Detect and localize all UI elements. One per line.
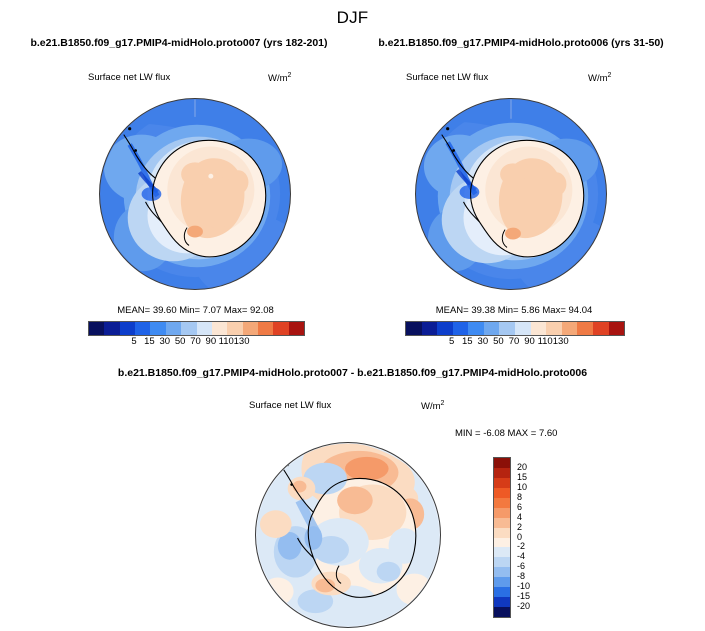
field-label-difference: Surface net LW flux <box>249 400 331 411</box>
panel-title-difference: b.e21.B1850.f09_g17.PMIP4-midHolo.proto0… <box>0 367 705 379</box>
colorbar-cell <box>494 488 510 498</box>
colorbar-tick-label: 30 <box>159 336 170 347</box>
colorbar-cell <box>258 322 273 335</box>
colorbar-cell <box>181 322 196 335</box>
colorbar-tick-label: -10 <box>517 581 530 591</box>
colorbar-cell <box>484 322 500 335</box>
colorbar-cell <box>273 322 288 335</box>
unit-label-right: W/m2 <box>588 72 611 84</box>
colorbar-tick-label: 90 <box>524 336 535 347</box>
unit-label-difference: W/m2 <box>421 400 444 412</box>
colorbar-cell <box>494 597 510 607</box>
colorbar-tick-label: 90 <box>206 336 217 347</box>
figure-season-title: DJF <box>0 8 705 28</box>
polar-map-difference <box>255 442 441 628</box>
colorbar-cell <box>494 468 510 478</box>
colorbar-cell <box>546 322 562 335</box>
stats-difference: MIN = -6.08 MAX = 7.60 <box>455 428 630 439</box>
colorbar-tick-label: 70 <box>190 336 201 347</box>
colorbar-cell <box>494 538 510 548</box>
colorbar-cell <box>227 322 242 335</box>
unit-label-left: W/m2 <box>268 72 291 84</box>
colorbar-cell <box>531 322 547 335</box>
colorbar-tick-label: -4 <box>517 551 525 561</box>
colorbar-cell <box>494 547 510 557</box>
polar-map-difference-svg <box>256 443 440 627</box>
colorbar-tick-label: 0 <box>517 532 522 542</box>
polar-map-right-svg <box>416 99 606 289</box>
colorbar-cell <box>494 508 510 518</box>
colorbar-tick-label: 10 <box>517 482 527 492</box>
unit-text-right: W/m <box>588 73 608 84</box>
colorbar-tick-label: 15 <box>462 336 473 347</box>
colorbar-tick-label: 15 <box>517 472 527 482</box>
colorbar-cell <box>406 322 422 335</box>
colorbar-cell <box>150 322 165 335</box>
stats-right: MEAN= 39.38 Min= 5.86 Max= 94.04 <box>405 305 623 316</box>
colorbar-cell <box>494 528 510 538</box>
polar-map-right <box>415 98 607 290</box>
polar-map-left <box>99 98 291 290</box>
colorbar-cell <box>609 322 625 335</box>
colorbar-difference <box>493 457 511 618</box>
colorbar-tick-label: 2 <box>517 522 522 532</box>
colorbar-tick-label: 4 <box>517 512 522 522</box>
colorbar-tick-label: 130 <box>553 336 569 347</box>
colorbar-tick-label: 8 <box>517 492 522 502</box>
colorbar-tick-label: 110 <box>219 336 234 347</box>
unit-exponent-right: 2 <box>608 72 612 79</box>
colorbar-tick-label: -20 <box>517 601 530 611</box>
unit-exponent-left: 2 <box>288 72 292 79</box>
colorbar-tick-label: 20 <box>517 462 527 472</box>
colorbar-cell <box>289 322 304 335</box>
colorbar-tick-label: 6 <box>517 502 522 512</box>
colorbar-tick-label: 5 <box>449 336 454 347</box>
colorbar-cell <box>515 322 531 335</box>
colorbar-cell <box>494 557 510 567</box>
colorbar-tick-label: -15 <box>517 591 530 601</box>
colorbar-tick-label: 50 <box>493 336 504 347</box>
colorbar-cell <box>422 322 438 335</box>
colorbar-tick-label: 130 <box>234 336 250 347</box>
colorbar-cell <box>577 322 593 335</box>
colorbar-left <box>88 321 305 336</box>
colorbar-cell <box>494 607 510 617</box>
unit-exponent-difference: 2 <box>441 400 445 407</box>
stats-left: MEAN= 39.60 Min= 7.07 Max= 92.08 <box>88 305 303 316</box>
colorbar-cell <box>212 322 227 335</box>
colorbar-tick-label: -2 <box>517 541 525 551</box>
colorbar-cell <box>494 478 510 488</box>
unit-text-left: W/m <box>268 73 288 84</box>
colorbar-tick-label: 50 <box>175 336 186 347</box>
colorbar-cell <box>499 322 515 335</box>
field-label-right: Surface net LW flux <box>406 72 488 83</box>
colorbar-tick-label: 70 <box>509 336 520 347</box>
colorbar-right-labels: 51530507090110130 <box>405 336 623 350</box>
colorbar-tick-label: 110 <box>538 336 553 347</box>
unit-text-difference: W/m <box>421 401 441 412</box>
colorbar-right <box>405 321 625 336</box>
polar-map-left-svg <box>100 99 290 289</box>
colorbar-cell <box>494 587 510 597</box>
colorbar-tick-label: -6 <box>517 561 525 571</box>
colorbar-cell <box>468 322 484 335</box>
colorbar-cell <box>593 322 609 335</box>
colorbar-tick-label: 15 <box>144 336 155 347</box>
colorbar-cell <box>120 322 135 335</box>
colorbar-cell <box>494 567 510 577</box>
colorbar-cell <box>135 322 150 335</box>
colorbar-cell <box>197 322 212 335</box>
colorbar-cell <box>494 458 510 468</box>
colorbar-cell <box>104 322 119 335</box>
colorbar-cell <box>243 322 258 335</box>
panel-title-left: b.e21.B1850.f09_g17.PMIP4-midHolo.proto0… <box>10 37 348 49</box>
panel-title-right: b.e21.B1850.f09_g17.PMIP4-midHolo.proto0… <box>352 37 690 49</box>
field-label-left: Surface net LW flux <box>88 72 170 83</box>
colorbar-tick-label: 5 <box>131 336 136 347</box>
colorbar-cell <box>494 577 510 587</box>
colorbar-tick-label: -8 <box>517 571 525 581</box>
colorbar-cell <box>494 518 510 528</box>
colorbar-cell <box>437 322 453 335</box>
colorbar-cell <box>562 322 578 335</box>
colorbar-left-labels: 51530507090110130 <box>88 336 303 350</box>
colorbar-tick-label: 30 <box>478 336 489 347</box>
colorbar-cell <box>494 498 510 508</box>
colorbar-cell <box>166 322 181 335</box>
colorbar-cell <box>453 322 469 335</box>
colorbar-cell <box>89 322 104 335</box>
